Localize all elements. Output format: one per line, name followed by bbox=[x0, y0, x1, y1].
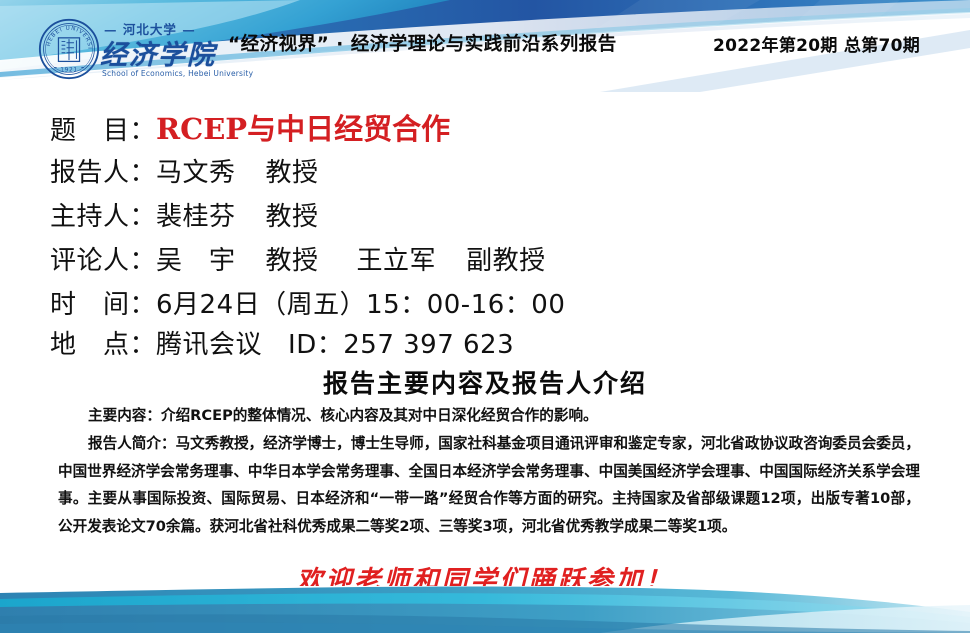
institution-logo: HEBEI UNIVERSITY 1921 — 河北大学 — 经济学院 Scho… bbox=[38, 12, 238, 86]
place-label: 地 点： bbox=[50, 324, 156, 361]
footer-banner bbox=[0, 586, 970, 633]
bio-text: 马文秀教授，经济学博士，博士生导师，国家社科基金项目通讯评审和鉴定专家，河北省政… bbox=[58, 435, 920, 535]
time-label: 时 间： bbox=[50, 284, 156, 321]
time-value: 6月24日（周五）15：00-16：00 bbox=[156, 290, 565, 320]
svg-text:1921: 1921 bbox=[60, 67, 77, 73]
host-label: 主持人： bbox=[50, 196, 156, 233]
poster-root: HEBEI UNIVERSITY 1921 — 河北大学 — 经济学院 Scho… bbox=[0, 0, 970, 633]
speaker-name: 马文秀 bbox=[156, 158, 236, 188]
commenter2-name: 王立军 bbox=[357, 246, 437, 276]
host-rank: 教授 bbox=[266, 202, 319, 232]
row-title: 题 目：RCEP与中日经贸合作 bbox=[50, 106, 450, 148]
speaker-label: 报告人： bbox=[50, 152, 156, 189]
commenter2-rank: 副教授 bbox=[466, 246, 546, 276]
row-host: 主持人：裴桂芬教授 bbox=[50, 196, 319, 233]
main-content-paragraph: 主要内容：介绍RCEP的整体情况、核心内容及其对中日深化经贸合作的影响。 bbox=[58, 402, 920, 430]
bio-paragraph: 报告人简介：马文秀教授，经济学博士，博士生导师，国家社科基金项目通讯评审和鉴定专… bbox=[58, 430, 920, 540]
issue-number: 2022年第20期 总第70期 bbox=[713, 31, 920, 56]
main-content-label: 主要内容： bbox=[88, 407, 161, 424]
row-speaker: 报告人：马文秀教授 bbox=[50, 152, 319, 189]
title-value: RCEP与中日经贸合作 bbox=[156, 112, 450, 146]
place-value: 腾讯会议 bbox=[156, 330, 262, 360]
commenter-label: 评论人： bbox=[50, 240, 156, 277]
main-content-text: 介绍RCEP的整体情况、核心内容及其对中日深化经贸合作的影响。 bbox=[161, 407, 598, 424]
bio-label: 报告人简介： bbox=[88, 435, 176, 452]
meeting-id-value: 257 397 623 bbox=[343, 330, 514, 360]
row-place: 地 点：腾讯会议ID：257 397 623 bbox=[50, 324, 514, 361]
series-title: “经济视界” · 经济学理论与实践前沿系列报告 bbox=[228, 30, 617, 56]
row-time: 时 间：6月24日（周五）15：00-16：00 bbox=[50, 284, 565, 321]
title-label: 题 目： bbox=[50, 110, 156, 147]
host-name: 裴桂芬 bbox=[156, 202, 236, 232]
header-banner: HEBEI UNIVERSITY 1921 — 河北大学 — 经济学院 Scho… bbox=[0, 0, 970, 92]
school-name-cn-large: 经济学院 bbox=[100, 33, 216, 72]
footer-wave-graphic bbox=[0, 586, 970, 633]
row-commenters: 评论人：吴 宇教授王立军副教授 bbox=[50, 240, 546, 277]
speaker-rank: 教授 bbox=[266, 158, 319, 188]
poster-content: 题 目：RCEP与中日经贸合作 报告人：马文秀教授 主持人：裴桂芬教授 评论人：… bbox=[0, 92, 970, 552]
commenter1-name: 吴 宇 bbox=[156, 246, 236, 276]
school-name-en: School of Economics, Hebei University bbox=[102, 69, 253, 78]
commenter1-rank: 教授 bbox=[266, 246, 319, 276]
meeting-id-label: ID： bbox=[288, 330, 343, 360]
section-heading: 报告主要内容及报告人介绍 bbox=[0, 364, 970, 400]
hebei-university-seal-icon: HEBEI UNIVERSITY 1921 bbox=[38, 18, 100, 80]
